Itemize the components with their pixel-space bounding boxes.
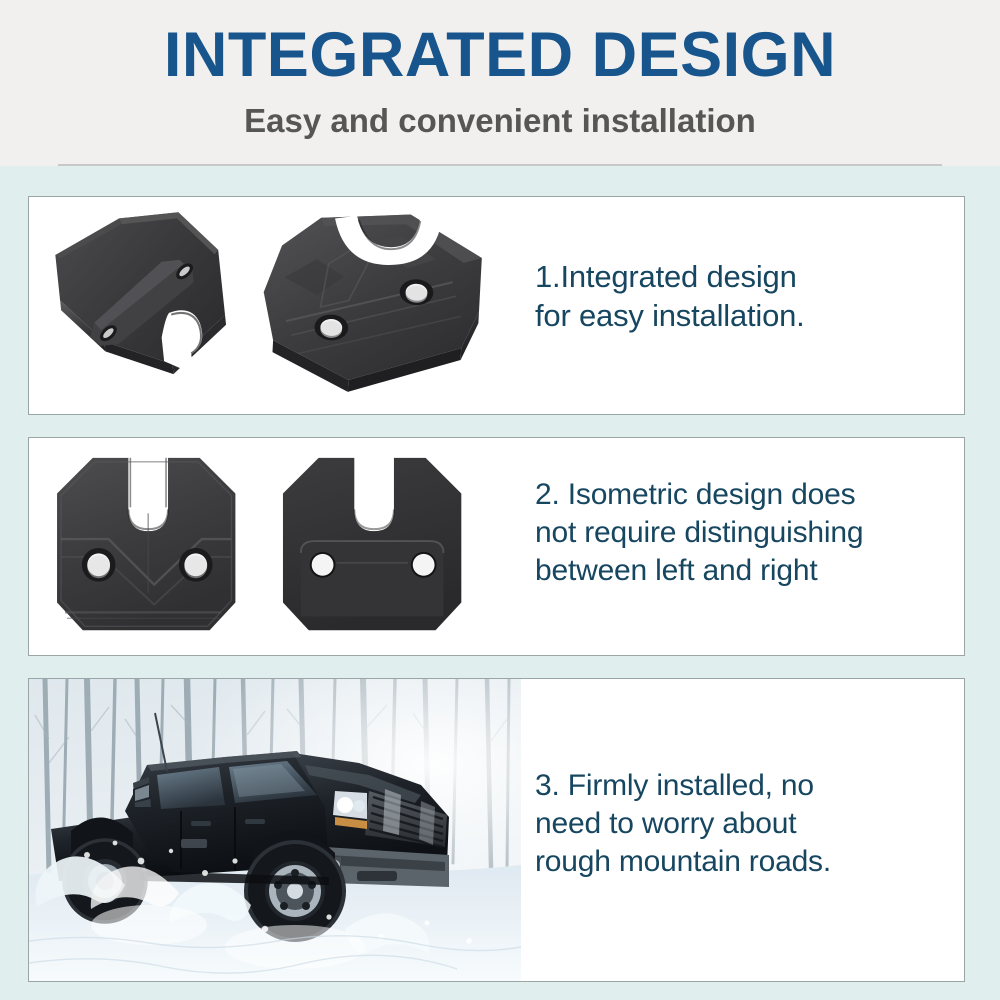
bracket-right-angled [259,207,484,398]
panel-1-caption: 1.Integrated design for easy installatio… [535,257,805,336]
bracket-pair-angled-photo [29,197,529,414]
page-subtitle: Easy and convenient installation [0,103,1000,139]
panel-3-caption: 3. Firmly installed, no need to worry ab… [535,767,831,881]
bracket-left-angled [52,208,231,387]
feature-panel-3: 3. Firmly installed, no need to worry ab… [28,678,965,982]
feature-panel-2: 2. Isometric design does not require dis… [28,437,965,656]
header-band: INTEGRATED DESIGN Easy and convenient in… [0,0,1000,166]
bracket-back-face [283,456,461,630]
feature-panel-1: 1.Integrated design for easy installatio… [28,196,965,415]
page-title: INTEGRATED DESIGN [0,22,1000,88]
truck-in-snow-photo [29,679,521,981]
header-divider [58,164,942,166]
bracket-front-face [57,456,235,630]
infographic-page: INTEGRATED DESIGN Easy and convenient in… [0,0,1000,1000]
panel-2-caption: 2. Isometric design does not require dis… [535,476,863,590]
bracket-front-back-photo [29,438,529,655]
